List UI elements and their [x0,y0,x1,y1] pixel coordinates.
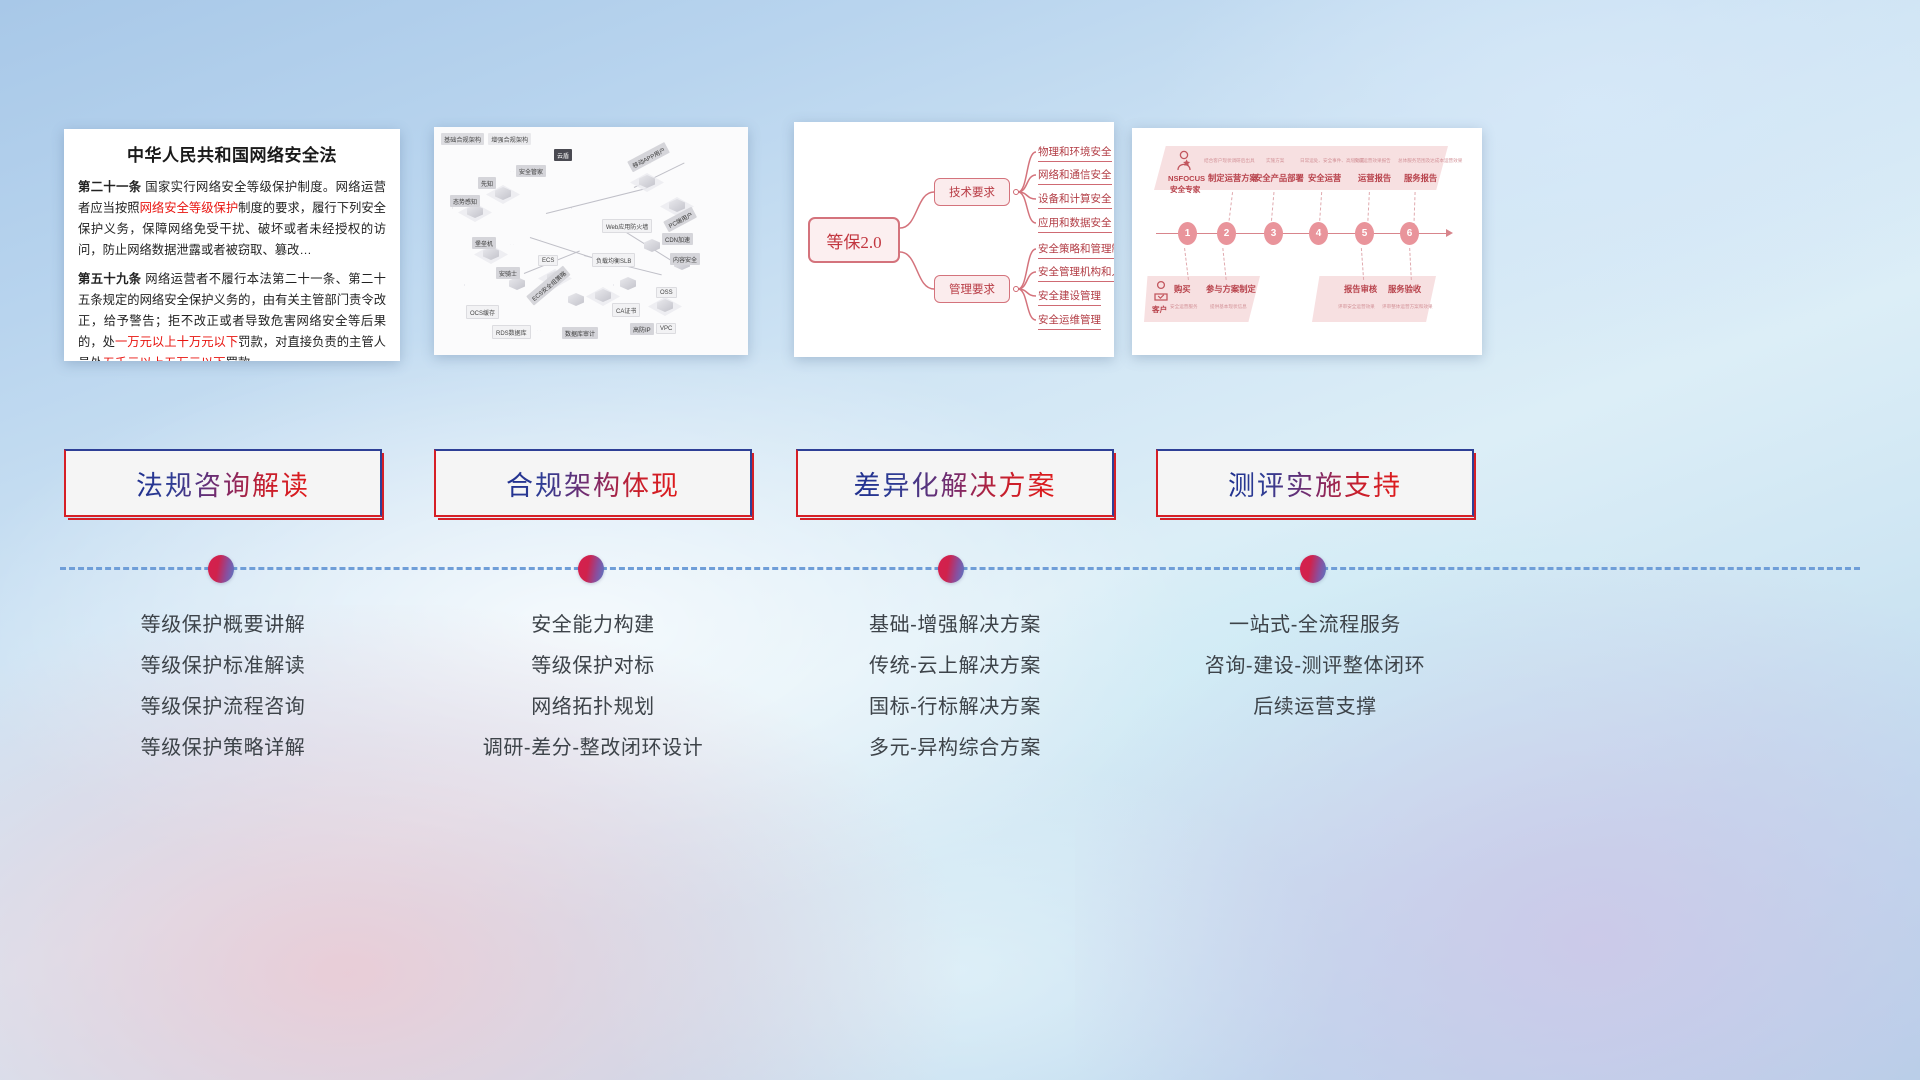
roadmap-top-sub-1: 结合客户现状调研后出具 [1204,158,1255,164]
roadmap-bottom-sub-2: 提供基本现状信息 [1210,304,1247,310]
category-button-compliance-architecture[interactable]: 合规架构体现 [434,449,752,517]
roadmap-bottom-sub-3: 评审安全运营效果 [1338,304,1375,310]
category-button-row: 法规咨询解读 合规架构体现 差异化解决方案 测评实施支持 [0,449,1920,519]
preview-card-cybersecurity-law[interactable]: 中华人民共和国网络安全法 第二十一条 国家实行网络安全等级保护制度。网络运营者应… [64,129,400,361]
architecture-label-anti-ddos-ip: 高防IP [630,323,654,335]
roadmap-step-4: 4 [1309,222,1328,245]
law-article-21: 第二十一条 国家实行网络安全等级保护制度。网络运营者应当按照网络安全等级保护制度… [78,177,386,262]
architecture-label-oss: OSS [656,287,677,298]
preview-card-row: 中华人民共和国网络安全法 第二十一条 国家实行网络安全等级保护制度。网络运营者应… [0,0,1920,430]
mindmap-collapse-icon-management[interactable] [1013,286,1019,292]
detail-column-0: 等级保护概要讲解 等级保护标准解读 等级保护流程咨询 等级保护策略详解 [64,605,382,769]
mindmap-root-node: 等保2.0 [808,217,900,263]
timeline-dot-1[interactable] [578,555,604,583]
category-label-0: 法规咨询解读 [136,464,310,503]
architecture-label-cdn: CDN加速 [662,233,693,245]
roadmap-step-1: 1 [1178,222,1197,245]
mindmap-leaf-application-data: 应用和数据安全 [1038,215,1112,233]
list-item: 等级保护概要讲解 [64,605,382,646]
mindmap-leaf-security-org-personnel: 安全管理机构和人员 [1038,264,1114,282]
roadmap-customer-role: 客户 [1152,304,1167,315]
roadmap-top-label-2: 安全产品部署 [1254,172,1304,184]
architecture-label-content-security: 内容安全 [670,253,700,265]
list-item: 安全能力构建 [434,605,752,646]
roadmap-bottom-label-1: 购买 [1174,283,1191,295]
timeline [0,545,1920,595]
roadmap-step-2: 2 [1217,222,1236,245]
category-label-3: 测评实施支持 [1228,464,1402,503]
list-item: 一站式-全流程服务 [1156,605,1474,646]
architecture-label-waf: Web应用防火墙 [602,219,652,233]
architecture-tab-group[interactable]: 基础合规架构 增强合规架构 [441,133,531,145]
roadmap-bottom-label-4: 服务验收 [1388,283,1421,295]
category-button-regulation-consulting[interactable]: 法规咨询解读 [64,449,382,517]
customer-person-icon [1152,280,1170,307]
roadmap-top-label-3: 安全运营 [1308,172,1341,184]
roadmap-bottom-sub-4: 评审整体运营方案和效果 [1382,304,1433,310]
architecture-label-ecs: ECS [538,255,558,266]
mindmap-branch-management: 管理要求 [934,275,1010,303]
law-article-21-highlight: 网络安全等级保护 [140,201,239,215]
mindmap-leaf-security-policy: 安全策略和管理制度 [1038,241,1114,259]
category-label-1: 合规架构体现 [506,464,680,503]
list-item: 多元-异构综合方案 [796,728,1114,769]
detail-column-3: 一站式-全流程服务 咨询-建设-测评整体闭环 后续运营支撑 [1156,605,1474,728]
architecture-label-slb: 负载均衡SLB [592,253,635,267]
roadmap-top-sub-4: 阶段运营效果报告 [1354,158,1391,164]
roadmap-top-sub-5: 总体服务范围及达成本运营效果 [1398,158,1462,164]
list-item: 后续运营支撑 [1156,687,1474,728]
roadmap-step-5: 5 [1355,222,1374,245]
roadmap-top-label-1: 制定运营方案 [1208,172,1258,184]
architecture-label-anqishi: 安骑士 [496,267,520,279]
architecture-label-bastion-host: 堡垒机 [472,237,496,249]
preview-card-mindmap[interactable]: 等保2.0 技术要求 管理要求 物理和环境安全 网络和通信安全 设备和计算安全 [794,122,1114,357]
list-item: 咨询-建设-测评整体闭环 [1156,646,1474,687]
architecture-tab-basic[interactable]: 基础合规架构 [441,133,484,145]
list-item: 国标-行标解决方案 [796,687,1114,728]
law-article-21-number: 第二十一条 [78,180,141,194]
preview-card-service-roadmap[interactable]: NSFOCUS 安全专家 客户 结合客户现状调研后出具 制定运营方案 实施方案 … [1132,128,1482,355]
architecture-label-rds-database: RDS数据库 [492,325,531,339]
law-article-59: 第五十九条 网络运营者不履行本法第二十一条、第二十五条规定的网络安全保护义务的，… [78,269,386,361]
mindmap-leaf-physical-environment: 物理和环境安全 [1038,144,1112,162]
list-item: 等级保护策略详解 [64,728,382,769]
architecture-label-xianzhi: 先知 [478,177,496,189]
list-item: 调研-差分-整改闭环设计 [434,728,752,769]
roadmap-bottom-label-2: 参与方案制定 [1206,283,1256,295]
expert-person-icon [1174,150,1194,177]
timeline-dot-3[interactable] [1300,555,1326,583]
architecture-label-security-butler: 安全管家 [516,165,546,177]
roadmap-vendor-role: 安全专家 [1170,184,1200,195]
law-article-59-number: 第五十九条 [78,272,141,286]
architecture-label-vpc: VPC [656,323,676,334]
detail-column-1: 安全能力构建 等级保护对标 网络拓扑规划 调研-差分-整改闭环设计 [434,605,752,769]
mindmap-leaf-security-operation: 安全运维管理 [1038,312,1101,330]
architecture-label-ocs-cache: OCS缓存 [466,305,499,319]
architecture-label-situational-awareness: 态势感知 [450,195,480,207]
category-label-2: 差异化解决方案 [854,464,1057,503]
category-button-differentiated-solution[interactable]: 差异化解决方案 [796,449,1114,517]
roadmap-step-3: 3 [1264,222,1283,245]
architecture-label-cloud-shield: 云盾 [554,149,572,161]
preview-card-compliance-architecture[interactable]: 基础合规架构 增强合规架构 [434,127,748,355]
roadmap-top-sub-2: 实施方案 [1266,158,1284,164]
mindmap-branch-technical: 技术要求 [934,178,1010,206]
list-item: 传统-云上解决方案 [796,646,1114,687]
mindmap-leaf-network-communication: 网络和通信安全 [1038,167,1112,185]
mindmap-leaf-device-computing: 设备和计算安全 [1038,191,1112,209]
roadmap-bottom-sub-1: 安全运营服务 [1170,304,1198,310]
roadmap-axis-arrow-icon [1446,229,1453,237]
mindmap-leaf-security-construction: 安全建设管理 [1038,288,1101,306]
list-item: 基础-增强解决方案 [796,605,1114,646]
timeline-dot-0[interactable] [208,555,234,583]
list-item: 等级保护对标 [434,646,752,687]
law-article-59-highlight-2: 五千元以上五万元以下 [103,356,226,361]
architecture-label-db-audit: 数据库审计 [562,327,598,339]
law-title: 中华人民共和国网络安全法 [78,141,386,166]
detail-column-row: 等级保护概要讲解 等级保护标准解读 等级保护流程咨询 等级保护策略详解 安全能力… [0,605,1920,835]
law-article-59-highlight-1: 一万元以上十万元以下 [115,335,238,349]
roadmap-top-label-4: 运营报告 [1358,172,1391,184]
architecture-tab-enhanced[interactable]: 增强合规架构 [488,133,531,145]
list-item: 网络拓扑规划 [434,687,752,728]
roadmap-step-6: 6 [1400,222,1419,245]
roadmap-vendor-name: NSFOCUS [1168,174,1205,183]
list-item: 等级保护流程咨询 [64,687,382,728]
law-article-59-post-2: 罚款。 [226,356,263,361]
category-button-assessment-support[interactable]: 测评实施支持 [1156,449,1474,517]
timeline-dot-2[interactable] [938,555,964,583]
mindmap-collapse-icon-technical[interactable] [1013,189,1019,195]
roadmap-top-label-5: 服务报告 [1404,172,1437,184]
list-item: 等级保护标准解读 [64,646,382,687]
detail-column-2: 基础-增强解决方案 传统-云上解决方案 国标-行标解决方案 多元-异构综合方案 [796,605,1114,769]
architecture-label-ca-certificate: CA证书 [612,303,640,317]
roadmap-bottom-label-3: 报告审核 [1344,283,1377,295]
